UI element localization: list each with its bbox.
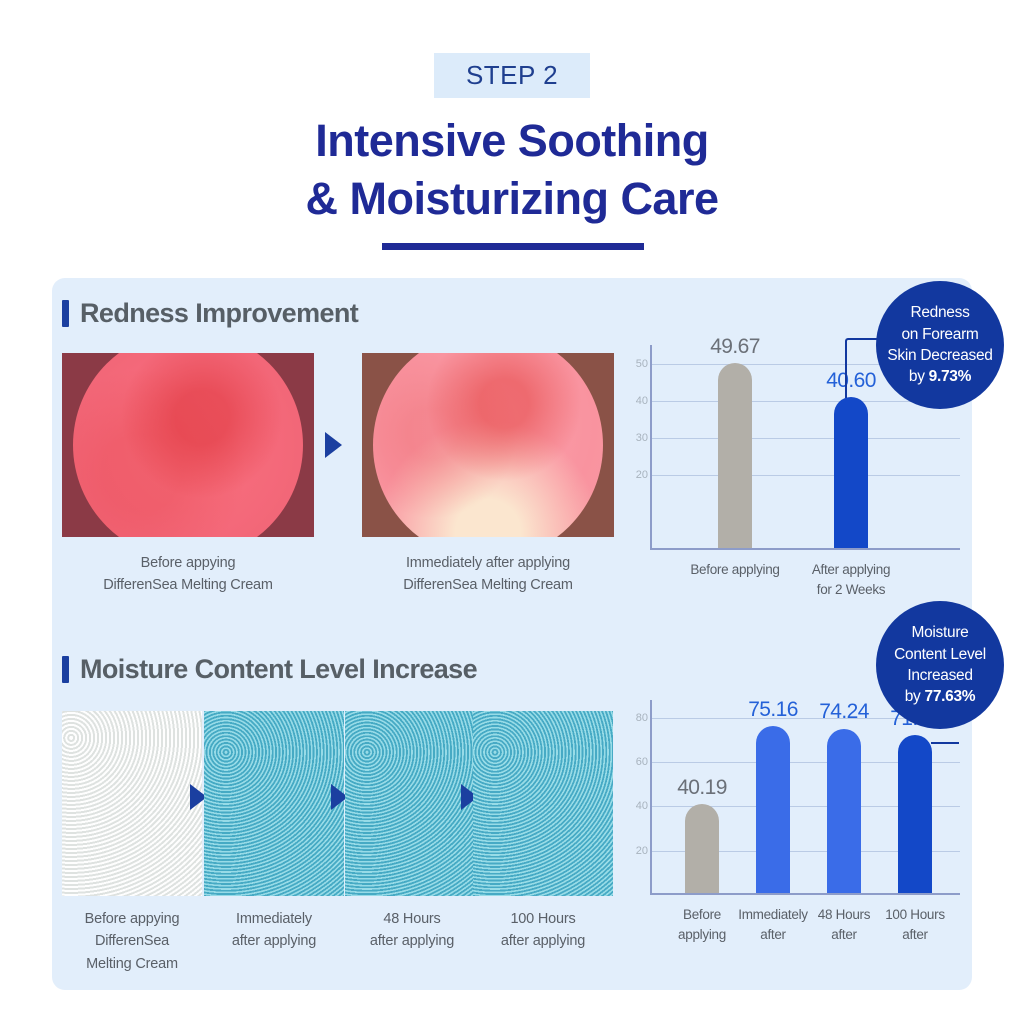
- moisture-caption-immediately: Immediately after applying: [199, 908, 349, 953]
- moisture-panel-100h: [473, 711, 613, 896]
- y-axis-tick-label: 40: [624, 800, 648, 812]
- bar: [834, 397, 868, 548]
- gridline: [652, 438, 960, 439]
- moisture-caption-100h-line1: 100 Hours: [468, 908, 618, 930]
- moisture-caption-immediately-line2: after applying: [199, 930, 349, 952]
- badge-redness-line4: by 9.73%: [887, 366, 992, 387]
- redness-photo-after: [362, 353, 614, 537]
- badge-redness-prefix: by: [909, 368, 929, 385]
- moisture-panel-before: [62, 711, 202, 896]
- skin-disc-before: [73, 353, 303, 537]
- skin-disc-after: [373, 353, 603, 537]
- redness-caption-after: Immediately after applying DifferenSea M…: [362, 552, 614, 597]
- y-axis-tick-label: 20: [624, 469, 648, 481]
- callout-connector-moisture: [931, 742, 959, 744]
- badge-moisture-line4: by 77.63%: [894, 686, 986, 707]
- x-axis-tick-label: After applyingfor 2 Weeks: [786, 560, 916, 601]
- y-axis-tick-label: 20: [624, 845, 648, 857]
- x-axis-tick-label: Before applying: [670, 560, 800, 580]
- bar: [685, 804, 719, 893]
- page-title-line1: Intensive Soothing: [0, 112, 1024, 170]
- badge-moisture-value: 77.63%: [925, 688, 976, 705]
- moisture-caption-48h: 48 Hours after applying: [337, 908, 487, 953]
- moisture-panel-immediately: [204, 711, 344, 896]
- badge-moisture-line1: Moisture: [894, 622, 986, 643]
- badge-redness-line2: on Forearm: [887, 324, 992, 345]
- redness-photo-before: [62, 353, 314, 537]
- moisture-caption-100h-line2: after applying: [468, 930, 618, 952]
- page-title-line2: & Moisturizing Care: [0, 170, 1024, 228]
- redness-caption-before: Before appying DifferenSea Melting Cream: [62, 552, 314, 597]
- title-underline: [382, 243, 644, 250]
- page-title: Intensive Soothing & Moisturizing Care: [0, 112, 1024, 227]
- x-axis-tick-label: 100 Hoursafter: [869, 905, 961, 946]
- redness-caption-after-line1: Immediately after applying: [362, 552, 614, 574]
- x-axis-tick-label-line: After applying: [786, 560, 916, 580]
- bar: [898, 735, 932, 893]
- bar: [827, 729, 861, 894]
- section-heading-redness: Redness Improvement: [62, 298, 358, 329]
- x-axis-tick-label-line: Before applying: [670, 560, 800, 580]
- x-axis-line: [650, 548, 960, 550]
- heading-accent-bar: [62, 300, 69, 327]
- texture-grain: [473, 711, 613, 896]
- section-heading-moisture: Moisture Content Level Increase: [62, 654, 477, 685]
- texture-grain: [62, 711, 202, 896]
- moisture-caption-immediately-line1: Immediately: [199, 908, 349, 930]
- redness-caption-before-line2: DifferenSea Melting Cream: [62, 574, 314, 596]
- badge-moisture-prefix: by: [905, 688, 925, 705]
- x-axis-tick-label-line: for 2 Weeks: [786, 580, 916, 600]
- badge-redness-line1: Redness: [887, 302, 992, 323]
- x-axis-tick-label-line: after: [869, 925, 961, 945]
- badge-redness: Redness on Forearm Skin Decreased by 9.7…: [876, 281, 1004, 409]
- bar-value-label: 49.67: [680, 335, 790, 359]
- badge-moisture-line3: Increased: [894, 665, 986, 686]
- bar: [756, 726, 790, 893]
- y-axis-tick-label: 50: [624, 358, 648, 370]
- moisture-caption-before-line3: Melting Cream: [57, 953, 207, 975]
- y-axis-tick-label: 40: [624, 395, 648, 407]
- section-heading-moisture-label: Moisture Content Level Increase: [80, 654, 477, 685]
- moisture-caption-before: Before appying DifferenSea Melting Cream: [57, 908, 207, 975]
- badge-redness-line3: Skin Decreased: [887, 345, 992, 366]
- step-label: STEP 2: [466, 60, 558, 91]
- redness-caption-after-line2: DifferenSea Melting Cream: [362, 574, 614, 596]
- x-axis-line: [650, 893, 960, 895]
- gridline: [652, 475, 960, 476]
- y-axis-tick-label: 80: [624, 712, 648, 724]
- y-axis-tick-label: 60: [624, 756, 648, 768]
- moisture-caption-100h: 100 Hours after applying: [468, 908, 618, 953]
- step-badge: STEP 2: [434, 53, 590, 98]
- moisture-caption-before-line2: DifferenSea: [57, 930, 207, 952]
- badge-redness-value: 9.73%: [929, 368, 971, 385]
- progress-arrow-icon: [325, 432, 342, 458]
- moisture-caption-before-line1: Before appying: [57, 908, 207, 930]
- bar: [718, 363, 752, 548]
- moisture-caption-48h-line2: after applying: [337, 930, 487, 952]
- bar-value-label: 40.19: [647, 776, 757, 800]
- y-axis-tick-label: 30: [624, 432, 648, 444]
- moisture-caption-48h-line1: 48 Hours: [337, 908, 487, 930]
- badge-moisture: Moisture Content Level Increased by 77.6…: [876, 601, 1004, 729]
- section-heading-redness-label: Redness Improvement: [80, 298, 358, 329]
- texture-grain: [204, 711, 344, 896]
- y-axis-line: [650, 345, 652, 550]
- moisture-chart: 2040608040.19Beforeapplying75.16Immediat…: [632, 700, 942, 895]
- heading-accent-bar: [62, 656, 69, 683]
- badge-moisture-line2: Content Level: [894, 644, 986, 665]
- x-axis-tick-label-line: 100 Hours: [869, 905, 961, 925]
- redness-caption-before-line1: Before appying: [62, 552, 314, 574]
